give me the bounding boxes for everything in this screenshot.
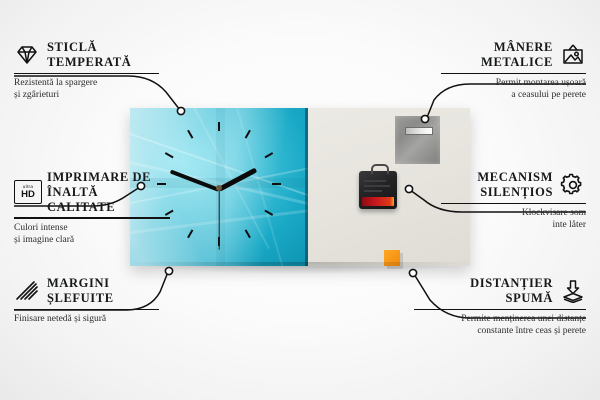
callout-tempered-glass: STICLĂ TEMPERATĂ Rezistentă la spargere … (14, 40, 159, 101)
metal-hanger-plate (395, 116, 440, 164)
clock-tick (264, 152, 273, 158)
callout-silent-mechanism: MECANISM SILENȚIOS Klockvisare som inte … (441, 170, 586, 231)
callout-title: DISTANȚIER SPUMĂ (470, 276, 553, 306)
clock-tick (245, 130, 251, 139)
callout-title: IMPRIMARE DE ÎNALTĂ CALITATE (47, 170, 170, 214)
clock-tick (272, 183, 281, 185)
callout-metal-handles: MÂNERE METALICE Permit montarea ușoară a… (441, 40, 586, 101)
clock-tick (245, 229, 251, 238)
callout-title: MÂNERE METALICE (481, 40, 553, 70)
clock-tick (218, 122, 220, 131)
mechanism-detail (364, 185, 390, 187)
callout-rule (441, 203, 586, 204)
clock-tick (187, 130, 193, 139)
product-shadow (130, 262, 470, 274)
callout-rule (14, 309, 159, 310)
mechanism-detail (364, 190, 382, 192)
arrow-press-pad-icon (560, 279, 586, 303)
picture-frame-icon (560, 43, 586, 67)
callout-subtext: Permite menținerea unei distanțe constan… (414, 313, 586, 337)
clock-center-pin (216, 185, 222, 191)
clock-mechanism (359, 171, 397, 209)
clock-second-hand (218, 189, 219, 249)
callout-title: STICLĂ TEMPERATĂ (47, 40, 131, 70)
clock-tick (165, 152, 174, 158)
callout-foam-spacer: DISTANȚIER SPUMĂ Permite menținerea unei… (414, 276, 586, 337)
callout-rule (414, 309, 586, 310)
badge-main-label: HD (21, 190, 35, 200)
diamond-icon (14, 43, 40, 67)
callout-title: MARGINI ȘLEFUITE (47, 276, 114, 306)
callout-hd-print: ultra HD IMPRIMARE DE ÎNALTĂ CALITATE Cu… (14, 170, 170, 246)
callout-subtext: Permit montarea ușoară a ceasului pe per… (441, 77, 586, 101)
infographic-canvas: STICLĂ TEMPERATĂ Rezistentă la spargere … (0, 0, 600, 400)
callout-subtext: Finisare netedă și sigură (14, 313, 159, 325)
callout-subtext: Culori intense și imagine clară (14, 222, 170, 246)
mechanism-detail (364, 180, 386, 182)
gear-icon (560, 173, 586, 197)
callout-title: MECANISM SILENȚIOS (477, 170, 553, 200)
callout-rule (441, 73, 586, 74)
callout-rule (14, 217, 170, 218)
hanger-slot (405, 127, 433, 135)
callout-subtext: Klockvisare som inte låter (441, 207, 586, 231)
callout-subtext: Rezistentă la spargere și zgârieturi (14, 77, 159, 101)
diagonal-lines-icon (14, 279, 40, 303)
product-photo (130, 108, 470, 266)
battery (362, 197, 394, 206)
mechanism-hook (371, 164, 389, 174)
callout-rule (14, 73, 159, 74)
clock-tick (187, 229, 193, 238)
callout-polished-edges: MARGINI ȘLEFUITE Finisare netedă și sigu… (14, 276, 159, 325)
ultra-hd-badge-icon: ultra HD (14, 180, 40, 204)
